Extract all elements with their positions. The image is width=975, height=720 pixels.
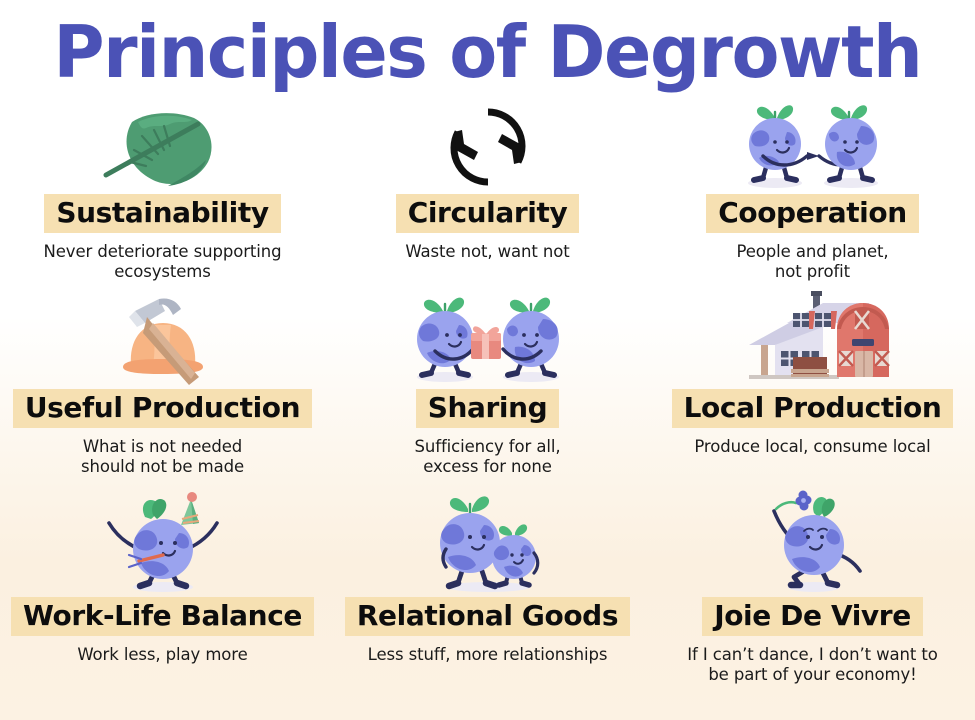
principle-subtitle: Less stuff, more relationships bbox=[368, 645, 608, 665]
principle-subtitle: What is not needed should not be made bbox=[81, 437, 244, 477]
principle-heading: Sustainability bbox=[44, 194, 280, 233]
earth-party-hat-icon bbox=[83, 493, 243, 593]
principle-card-relational-goods[interactable]: Relational Goods Less stuff, more relati… bbox=[325, 493, 650, 720]
principle-card-local-production[interactable]: Local Production Produce local, consume … bbox=[650, 293, 975, 493]
earth-dancing-flower-icon bbox=[738, 493, 888, 593]
principle-card-sharing[interactable]: Sharing Sufficiency for all, excess for … bbox=[325, 293, 650, 493]
principle-heading: Circularity bbox=[396, 194, 580, 233]
principle-card-useful-production[interactable]: Useful Production What is not needed sho… bbox=[0, 293, 325, 493]
principle-subtitle: Produce local, consume local bbox=[694, 437, 930, 457]
principle-heading: Cooperation bbox=[706, 194, 919, 233]
poster-title-container: Principles of Degrowth bbox=[0, 0, 975, 98]
principle-heading: Joie De Vivre bbox=[702, 597, 923, 636]
principle-card-joie-de-vivre[interactable]: Joie De Vivre If I can’t dance, I don’t … bbox=[650, 493, 975, 720]
principle-heading: Sharing bbox=[416, 389, 560, 428]
principle-card-sustainability[interactable]: Sustainability Never deteriorate support… bbox=[0, 98, 325, 293]
leaf-icon bbox=[98, 98, 228, 190]
degrowth-poster: Principles of Degrowth Sustainability Ne… bbox=[0, 0, 975, 720]
principle-heading: Relational Goods bbox=[345, 597, 630, 636]
principle-subtitle: Never deteriorate supporting ecosystems bbox=[44, 242, 282, 282]
principle-heading: Work-Life Balance bbox=[11, 597, 314, 636]
principle-subtitle: Work less, play more bbox=[77, 645, 247, 665]
principle-subtitle: Sufficiency for all, excess for none bbox=[415, 437, 561, 477]
circular-arrows-icon bbox=[442, 98, 534, 190]
principles-grid: Sustainability Never deteriorate support… bbox=[0, 98, 975, 720]
principle-subtitle: People and planet, not profit bbox=[736, 242, 888, 282]
principle-subtitle: Waste not, want not bbox=[405, 242, 569, 262]
two-earths-gift-icon bbox=[393, 293, 583, 385]
hammer-and-hard-hat-icon bbox=[103, 293, 223, 385]
page-title: Principles of Degrowth bbox=[54, 16, 922, 88]
two-earths-big-small-icon bbox=[408, 493, 568, 593]
principle-subtitle: If I can’t dance, I don’t want to be par… bbox=[687, 645, 938, 685]
principle-heading: Local Production bbox=[672, 389, 954, 428]
principle-card-work-life-balance[interactable]: Work-Life Balance Work less, play more bbox=[0, 493, 325, 720]
principle-heading: Useful Production bbox=[13, 389, 312, 428]
principle-card-circularity[interactable]: Circularity Waste not, want not bbox=[325, 98, 650, 293]
barn-icon bbox=[727, 293, 899, 385]
principle-card-cooperation[interactable]: Cooperation People and planet, not profi… bbox=[650, 98, 975, 293]
two-earths-handshake-icon bbox=[723, 98, 903, 190]
